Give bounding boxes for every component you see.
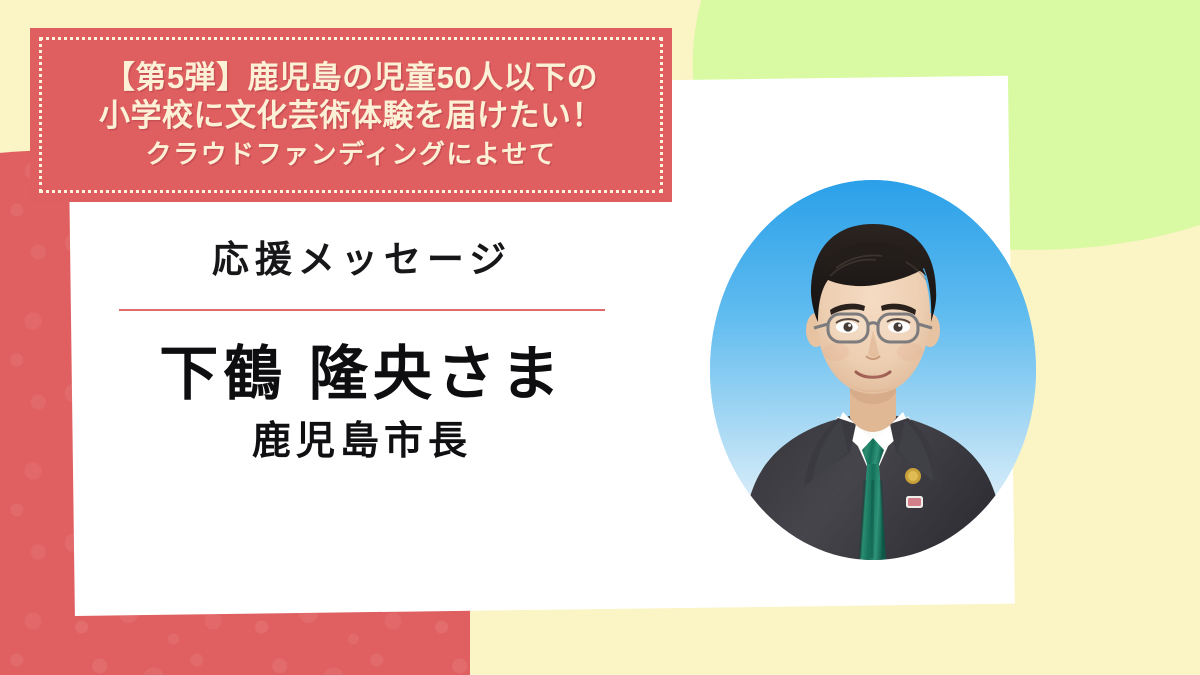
message-column: 応援メッセージ 下鶴 隆央さま 鹿児島市長 — [112, 240, 612, 464]
slide-canvas: 【第5弾】鹿児島の児童50人以下の 小学校に文化芸術体験を届けたい！ クラウドフ… — [0, 0, 1200, 675]
person-name: 下鶴 隆央さま — [112, 341, 612, 407]
message-title: 応援メッセージ — [112, 240, 612, 281]
portrait-illustration — [710, 180, 1036, 560]
portrait-photo — [710, 180, 1036, 560]
banner-line-3: クラウドファンディングによせて — [146, 139, 557, 171]
banner-line-2: 小学校に文化芸術体験を届けたい！ — [99, 97, 603, 135]
title-divider — [119, 309, 605, 311]
banner-line-1: 【第5弾】鹿児島の児童50人以下の — [104, 59, 598, 97]
person-role: 鹿児島市長 — [112, 421, 612, 464]
campaign-banner: 【第5弾】鹿児島の児童50人以下の 小学校に文化芸術体験を届けたい！ クラウドフ… — [30, 28, 672, 202]
